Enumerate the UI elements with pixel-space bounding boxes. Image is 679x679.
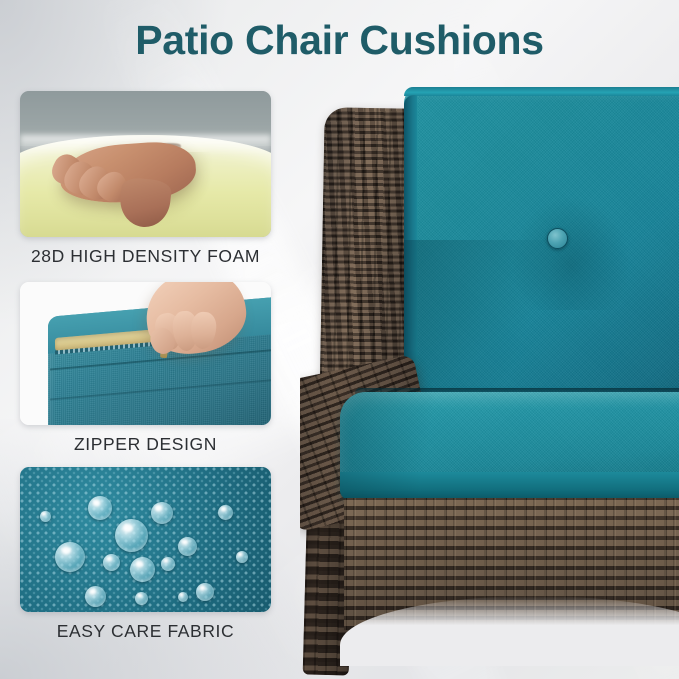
water-droplet [236,551,248,563]
hand-pressing-foam-photo [20,91,271,237]
water-droplet [85,586,106,607]
cushion-piping [404,87,679,96]
water-droplet [218,505,233,520]
feature-image-foam [20,91,271,237]
water-droplet [103,554,120,571]
product-infographic: Patio Chair Cushions 28D HIGH DENSITY FO… [0,0,679,679]
feature-card-zipper: ZIPPER DESIGN [20,282,271,455]
patio-wicker-chair-with-teal-cushions-photo [300,0,679,679]
water-droplet [178,537,197,556]
tufting-dimple [506,190,636,310]
water-droplet [151,502,173,524]
water-droplet [178,592,188,602]
feature-label-fabric: EASY CARE FABRIC [20,621,271,642]
feature-image-fabric [20,467,271,612]
water-droplet [40,511,51,522]
tufted-button [547,228,568,249]
seat-cushion-shadow [340,392,450,500]
feature-label-foam: 28D HIGH DENSITY FOAM [20,246,271,267]
water-droplet [196,583,214,601]
feature-image-zipper [20,282,271,425]
feature-card-foam: 28D HIGH DENSITY FOAM [20,91,271,267]
feature-label-zipper: ZIPPER DESIGN [20,434,271,455]
water-droplet [161,557,175,571]
water-beads-on-fabric-photo [20,467,271,612]
feature-card-fabric: EASY CARE FABRIC [20,467,271,642]
water-droplet [88,496,112,520]
hand-opening-zipper-photo [20,282,271,425]
